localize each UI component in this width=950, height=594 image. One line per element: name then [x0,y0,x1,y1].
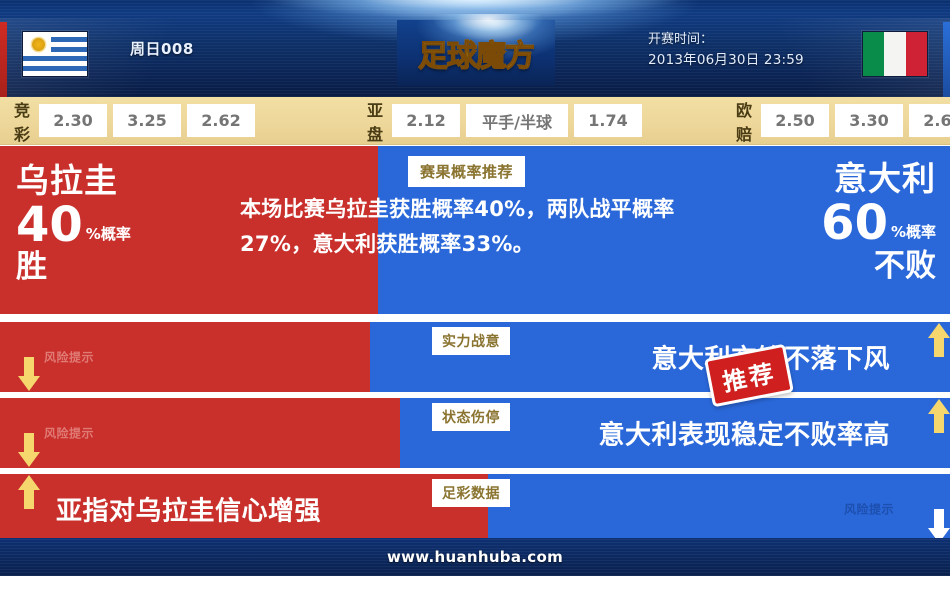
home-outcome-label: 胜 [16,252,131,283]
chip-form-injury: 状态伤停 [432,403,510,431]
odds-group-asian-handicap: 亚盘 2.12 平手/半球 1.74 [353,97,648,145]
site-url[interactable]: www.huanhuba.com [387,548,563,566]
away-team-block: 意大利 60 %概率 不败 [821,162,936,282]
row3-home-text: 亚指对乌拉圭信心增强 [56,491,321,528]
uruguay-flag-icon [22,31,88,77]
away-accent-bar [943,22,950,97]
chip-lottery-data: 足彩数据 [432,479,510,507]
site-logo[interactable]: 足球魔方 [397,20,555,86]
row3-away-side: 风险提示 [488,474,950,544]
odds-group-jingcai: 竞彩 2.30 3.25 2.62 [0,97,261,145]
odds-cell-jingcai-draw[interactable]: 3.25 [113,104,181,137]
odds-cell-euro-home[interactable]: 2.50 [761,104,829,137]
italy-flag-icon [862,31,928,77]
away-probability-suffix: %概率 [891,225,936,240]
odds-cell-euro-away[interactable]: 2.66 [909,104,950,137]
away-outcome-label: 不败 [821,251,936,282]
odds-label-european: 欧赔 [736,97,753,145]
away-probability-value: 60 [821,201,888,247]
home-accent-bar [0,22,7,97]
odds-cell-jingcai-home[interactable]: 2.30 [39,104,107,137]
row2-home-side: 风险提示 [0,398,400,468]
row2-away-text: 意大利表现稳定不败率高 [598,415,890,452]
sun-of-may-icon [32,38,45,51]
odds-cell-jingcai-away[interactable]: 2.62 [187,104,255,137]
away-team-name: 意大利 [821,162,936,195]
home-probability-value: 40 [16,203,83,249]
match-number: 周日008 [130,38,194,59]
odds-cell-euro-draw[interactable]: 3.30 [835,104,903,137]
odds-label-asian: 亚盘 [367,97,384,145]
odds-label-jingcai: 竞彩 [14,97,31,145]
odds-group-european: 欧赔 2.50 3.30 2.66 [722,97,950,145]
row3-home-side: 亚指对乌拉圭信心增强 [0,474,488,544]
header-bar: 周日008 开赛时间： 2013年06月30日 23:59 足球魔方 [0,0,950,97]
chip-strength-intent: 实力战意 [432,327,510,355]
bottom-spacer [0,576,950,594]
kickoff-info: 开赛时间： 2013年06月30日 23:59 [648,30,838,70]
row1-home-side: 风险提示 [0,322,370,392]
footer-bar: www.huanhuba.com [0,538,950,576]
home-probability-suffix: %概率 [86,227,131,242]
kickoff-time: 2013年06月30日 23:59 [648,50,838,70]
italy-tricolore [863,32,927,76]
chip-result-probability: 赛果概率推荐 [408,156,525,187]
odds-cell-asian-home[interactable]: 2.12 [392,104,460,137]
infographic-page: 周日008 开赛时间： 2013年06月30日 23:59 足球魔方 竞彩 2.… [0,0,950,594]
odds-cell-asian-line[interactable]: 平手/半球 [466,104,568,137]
uruguay-canton [23,32,51,56]
home-team-name: 乌拉圭 [16,164,131,197]
row1-home-risk-label: 风险提示 [44,349,94,366]
away-pct-row: 60 %概率 [821,201,936,247]
row2-home-risk-label: 风险提示 [44,425,94,442]
kickoff-label: 开赛时间： [648,30,838,50]
probability-summary: 本场比赛乌拉圭获胜概率40%，两队战平概率27%，意大利获胜概率33%。 [240,192,680,262]
odds-cell-asian-away[interactable]: 1.74 [574,104,642,137]
home-team-block: 乌拉圭 40 %概率 胜 [16,164,131,283]
row3-away-risk-label: 风险提示 [844,501,894,518]
odds-bar: 竞彩 2.30 3.25 2.62 亚盘 2.12 平手/半球 1.74 欧赔 … [0,97,950,145]
site-logo-text: 足球魔方 [418,31,534,75]
home-pct-row: 40 %概率 [16,203,131,249]
